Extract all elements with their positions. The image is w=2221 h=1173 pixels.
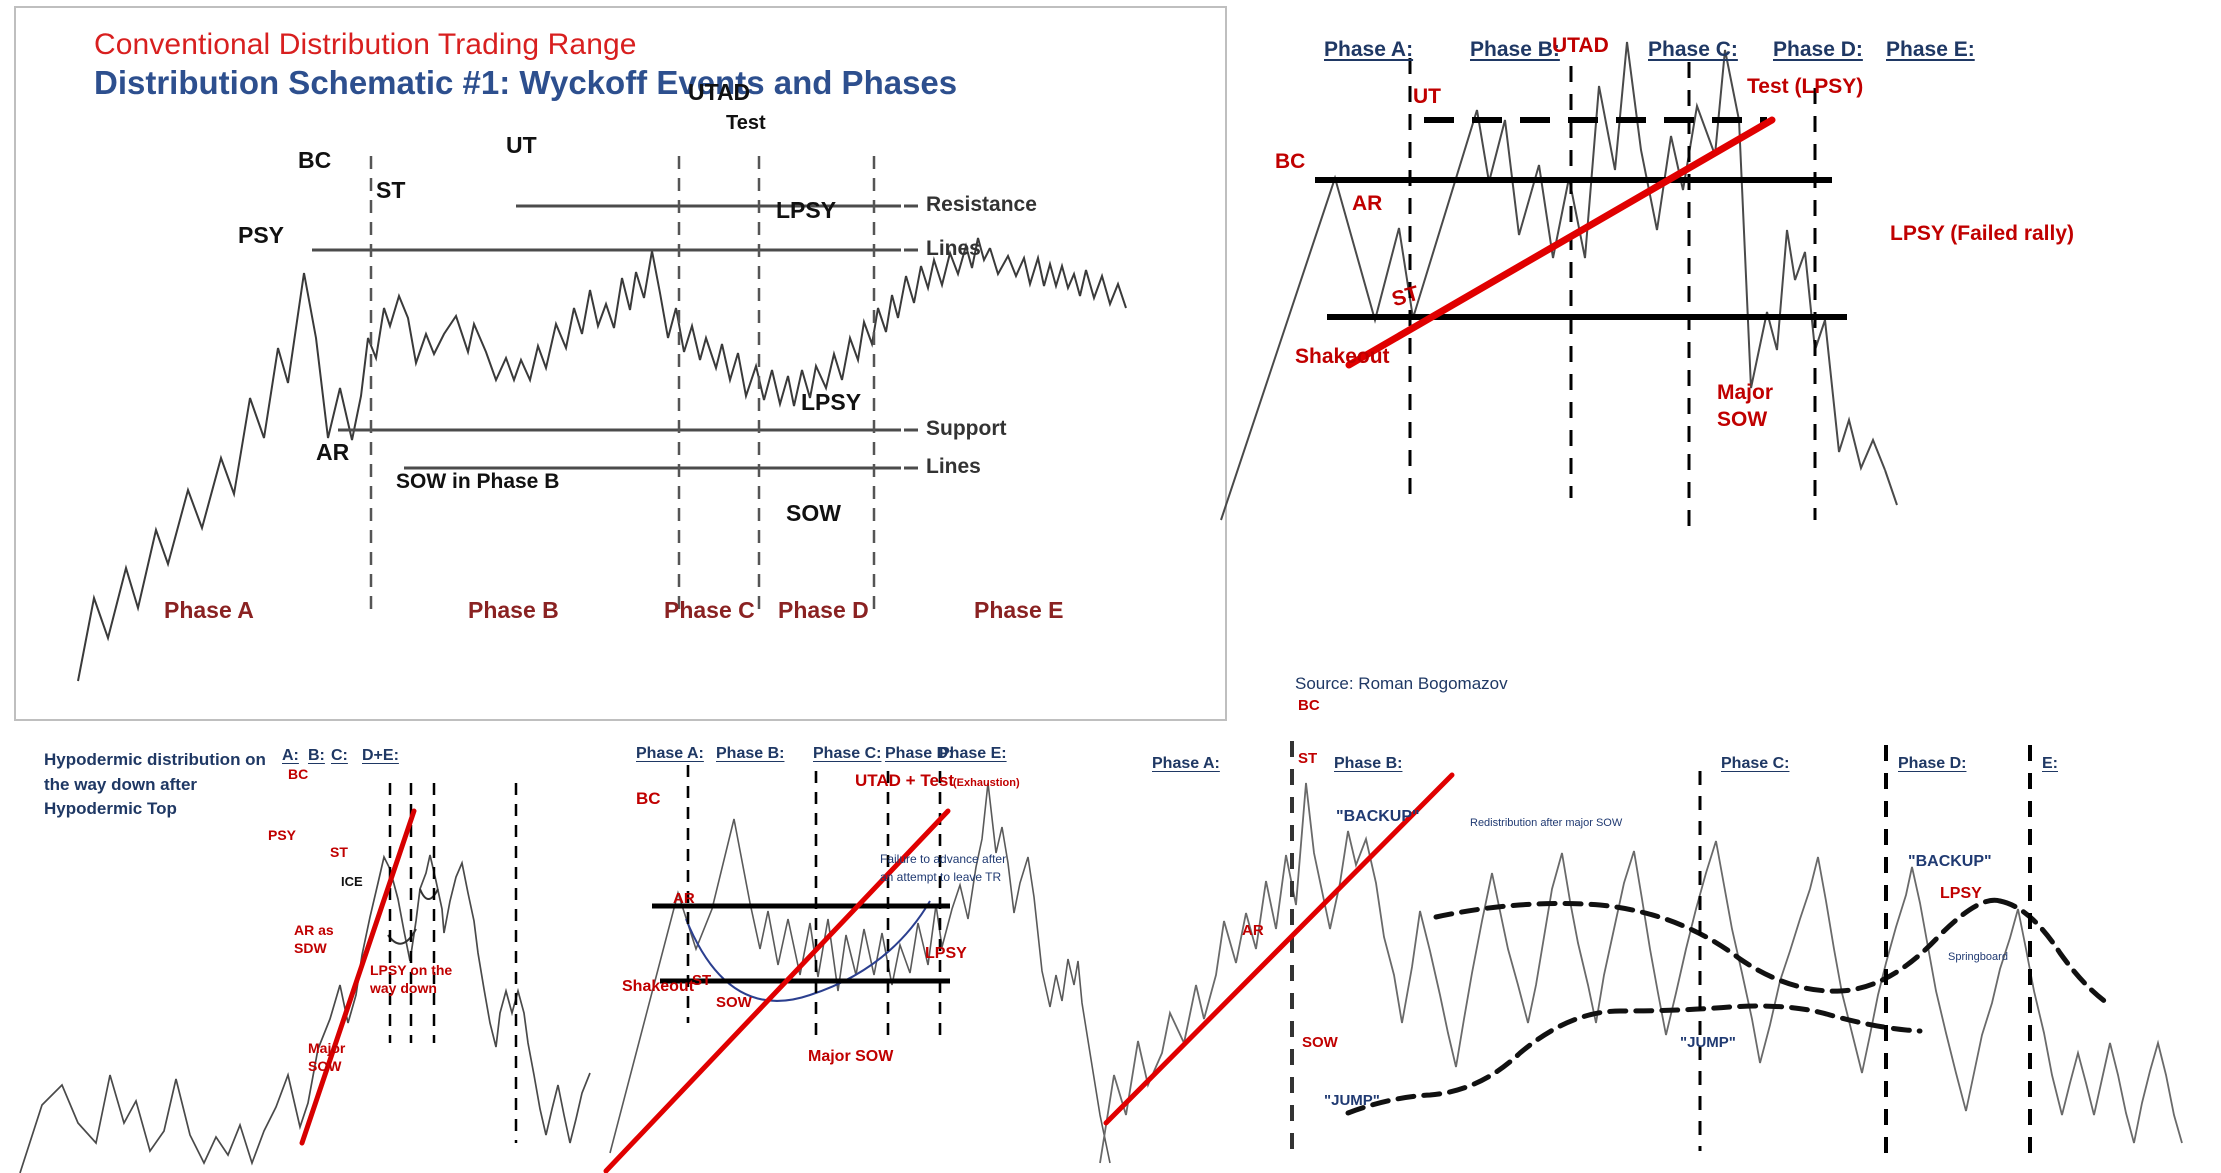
phase-header-e: Phase E: <box>939 745 1007 763</box>
arc-annotation-2 <box>420 889 438 899</box>
label-failure-line2: an attempt to leave TR <box>880 871 1001 884</box>
phase-header-c: C: <box>331 747 348 765</box>
schematic-5-chart <box>1100 723 2221 1173</box>
label-psy: PSY <box>268 828 296 844</box>
price-line <box>1221 42 1885 520</box>
label-st: ST <box>692 973 711 990</box>
label-springboard: Springboard <box>1948 951 2008 963</box>
panel-hypodermic-distribution: Hypodermic distribution on the way down … <box>0 723 600 1173</box>
label-ar: AR <box>316 440 349 466</box>
label-redistribution: Redistribution after major SOW <box>1470 817 1622 829</box>
label-test-lpsy: Test (LPSY) <box>1747 75 1863 99</box>
red-trend-line <box>1106 775 1452 1123</box>
phase-header-e: E: <box>2042 755 2058 773</box>
label-ice: ICE <box>341 875 363 890</box>
label-lpsy-1: LPSY <box>776 198 836 224</box>
panel-distribution-phases-detail: Phase A: Phase B: Phase C: Phase D: Phas… <box>1227 0 2221 720</box>
label-psy: PSY <box>238 223 284 249</box>
label-sdw: SDW <box>294 941 327 957</box>
label-st: ST <box>330 845 348 861</box>
lower-dashed-curve <box>1348 1006 1920 1113</box>
label-major: Major <box>1717 381 1773 405</box>
price-line-continuation <box>990 248 1126 308</box>
label-sow: SOW <box>1717 408 1767 432</box>
label-bc: BC <box>1275 150 1305 174</box>
panel-conventional-distribution-trading-range: Conventional Distribution Trading Range … <box>14 6 1227 721</box>
phase-header-b: Phase B: <box>1470 38 1560 62</box>
label-lpsy-line1: LPSY on the <box>370 963 452 979</box>
phase-header-d: Phase D: <box>1898 755 1966 773</box>
label-st: ST <box>376 178 405 204</box>
price-line <box>20 855 590 1173</box>
phase-header-c: Phase C: <box>1721 755 1789 773</box>
label-sow-in-phase-b: SOW in Phase B <box>396 470 559 494</box>
phase-header-a: A: <box>282 747 299 765</box>
panel-distribution-tr-with-jump: Phase A: Phase B: Phase C: Phase D: Phas… <box>600 723 1120 1173</box>
phase-label-c: Phase C <box>664 598 755 624</box>
label-backup-1: "BACKUP" <box>1336 808 1420 826</box>
label-sow: SOW <box>308 1059 341 1075</box>
phase-header-a: Phase A: <box>1324 38 1413 62</box>
label-sow: SOW <box>786 501 841 527</box>
upper-dashed-curve <box>1436 900 2000 991</box>
label-jump-2: "JUMP" <box>1680 1035 1736 1052</box>
label-shakeout: Shakeout <box>622 978 694 996</box>
label-lpsy: LPSY <box>925 945 967 963</box>
label-ar-as: AR as <box>294 923 334 939</box>
label-failure-line1: Failure to advance after <box>880 853 1006 866</box>
phase-label-d: Phase D <box>778 598 869 624</box>
label-utad: UTAD <box>688 80 750 106</box>
legend-support-label-2: Lines <box>926 455 981 479</box>
label-bc: BC <box>636 789 661 808</box>
label-ut: UT <box>1413 85 1441 109</box>
label-utad-test: UTAD + Test <box>855 771 954 790</box>
label-exhaustion: (Exhaustion) <box>953 777 1020 789</box>
source-attribution: Source: Roman Bogomazov <box>1295 674 1508 694</box>
legend-support-label-1: Support <box>926 417 1006 441</box>
label-st: ST <box>1298 751 1317 768</box>
panel-redistribution-jump-backup: Phase A: Phase B: Phase C: Phase D: E: S… <box>1100 723 2221 1173</box>
label-test: Test <box>726 112 766 134</box>
label-jump-1: "JUMP" <box>1324 1093 1380 1110</box>
legend-resistance-label-1: Resistance <box>926 193 1037 217</box>
label-bc: BC <box>1298 698 1320 715</box>
label-shakeout: Shakeout <box>1295 345 1390 369</box>
label-lpsy-line2: way down <box>370 981 437 997</box>
label-ut: UT <box>506 133 537 159</box>
phase-header-b: B: <box>308 747 325 765</box>
label-major: Major <box>308 1041 345 1057</box>
phase-label-a: Phase A <box>164 598 254 624</box>
blue-arc-annotation <box>686 901 930 1001</box>
label-lpsy-failed: LPSY (Failed rally) <box>1890 222 2074 246</box>
label-backup-2: "BACKUP" <box>1908 853 1992 871</box>
red-trend-line <box>1349 120 1772 365</box>
phase-header-c: Phase C: <box>813 745 881 763</box>
phase-header-c: Phase C: <box>1648 38 1738 62</box>
phase-label-e: Phase E <box>974 598 1064 624</box>
label-ar: AR <box>673 891 695 908</box>
label-utad: UTAD <box>1552 34 1609 58</box>
label-sow: SOW <box>716 995 752 1012</box>
label-lpsy-2: LPSY <box>801 390 861 416</box>
label-bc: BC <box>288 767 308 783</box>
phase-label-b: Phase B <box>468 598 559 624</box>
label-sow: SOW <box>1302 1035 1338 1052</box>
label-ar: AR <box>1242 923 1264 940</box>
price-line-tail <box>1885 470 1897 505</box>
schematic-4-chart <box>600 723 1120 1173</box>
label-lpsy: LPSY <box>1940 885 1982 903</box>
phase-header-de: D+E: <box>362 747 399 765</box>
wyckoff-distribution-schematics-board: Conventional Distribution Trading Range … <box>0 0 2221 1173</box>
legend-resistance-label-2: Lines <box>926 237 981 261</box>
phase-header-b: Phase B: <box>1334 755 1402 773</box>
label-bc: BC <box>298 148 331 174</box>
price-line <box>1100 783 2182 1163</box>
label-ar: AR <box>1352 192 1382 216</box>
phase-header-d: Phase D: <box>1773 38 1863 62</box>
phase-header-b: Phase B: <box>716 745 784 763</box>
phase-header-e: Phase E: <box>1886 38 1975 62</box>
phase-header-a: Phase A: <box>1152 755 1220 773</box>
phase-header-a: Phase A: <box>636 745 704 763</box>
label-major-sow: Major SOW <box>808 1048 893 1066</box>
